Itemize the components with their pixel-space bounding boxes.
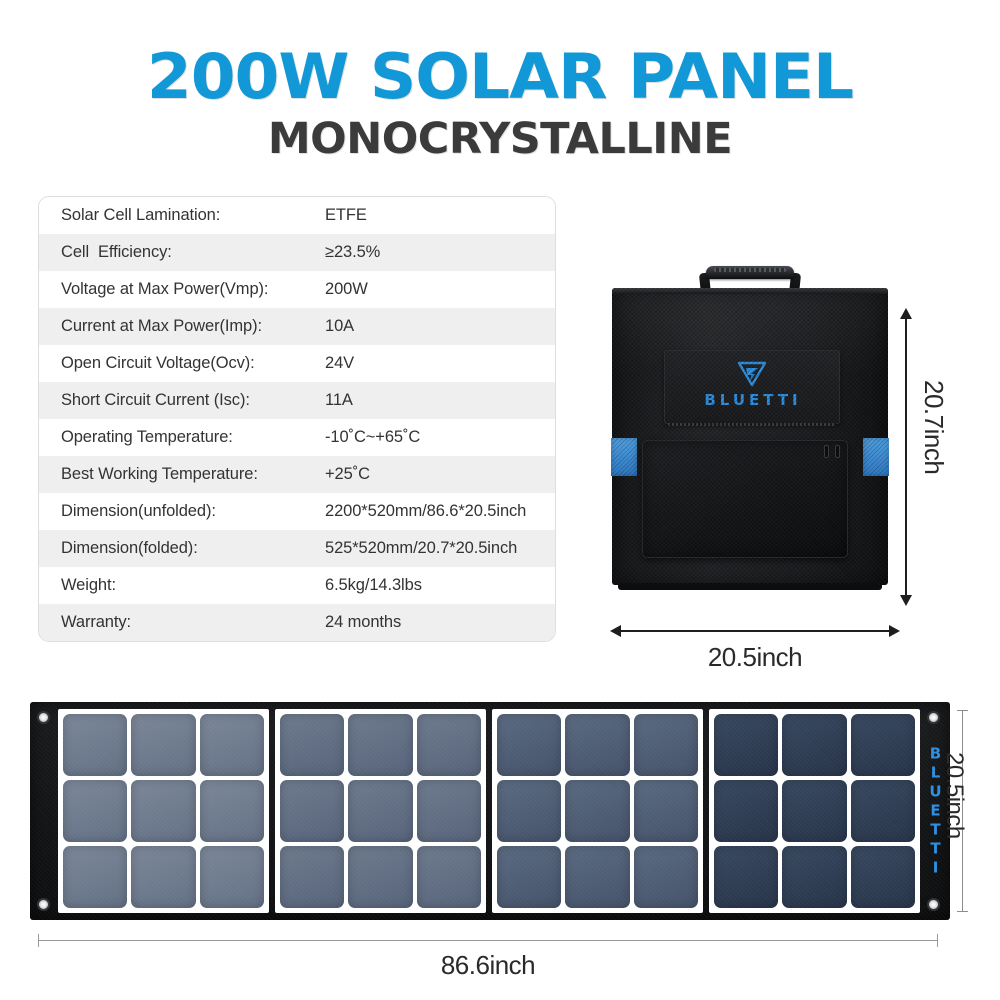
bag-width-dimension-line	[620, 630, 890, 632]
grommet-icon	[927, 711, 940, 724]
bag-flap-panel: BLUETTI	[664, 350, 840, 424]
solar-cell	[634, 780, 698, 842]
spec-label: Short Circuit Current (Isc):	[61, 391, 325, 410]
panel-width-dimension-line	[38, 940, 938, 941]
table-row: Operating Temperature: -10˚C~+65˚C	[39, 419, 555, 456]
arrow-left-icon	[610, 625, 621, 637]
folded-panel-bag-image: BLUETTI	[612, 288, 888, 588]
solar-cell	[131, 780, 195, 842]
spec-value: 11A	[325, 391, 353, 410]
solar-cell	[782, 780, 846, 842]
solar-cell	[497, 846, 561, 908]
spec-value: +25˚C	[325, 465, 370, 484]
tick-mark	[937, 934, 938, 947]
grommet-icon	[927, 898, 940, 911]
bag-top-edge	[612, 288, 888, 294]
product-spec-infographic: 200W SOLAR PANEL MONOCRYSTALLINE Solar C…	[0, 0, 1000, 1000]
solar-cell	[851, 846, 915, 908]
bag-front-pocket	[642, 440, 848, 558]
table-row: Short Circuit Current (Isc): 11A	[39, 382, 555, 419]
spec-value: 6.5kg/14.3lbs	[325, 576, 422, 595]
table-row: Voltage at Max Power(Vmp): 200W	[39, 271, 555, 308]
spec-value: 2200*520mm/86.6*20.5inch	[325, 502, 526, 521]
panel-section	[709, 709, 920, 913]
solar-cell	[782, 846, 846, 908]
solar-cell	[200, 714, 264, 776]
spec-value: 525*520mm/20.7*20.5inch	[325, 539, 517, 558]
zipper-pull-icon	[824, 445, 829, 458]
spec-label: Weight:	[61, 576, 325, 595]
spec-value: ≥23.5%	[325, 243, 380, 262]
solar-cell	[417, 780, 481, 842]
page-title: 200W SOLAR PANEL	[0, 46, 1000, 108]
bag-width-label: 20.5inch	[620, 642, 890, 673]
spec-value: 10A	[325, 317, 354, 336]
spec-value: -10˚C~+65˚C	[325, 428, 420, 447]
panel-width-label: 86.6inch	[38, 950, 938, 981]
bluetti-triangle-logo-icon	[737, 361, 767, 387]
spec-label: Dimension(folded):	[61, 539, 325, 558]
arrow-right-icon	[889, 625, 900, 637]
zipper-pull-icon	[835, 445, 840, 458]
side-strap-right	[863, 438, 889, 476]
solar-cell	[348, 846, 412, 908]
grommet-icon	[37, 898, 50, 911]
spec-table: Solar Cell Lamination: ETFE Cell Efficie…	[38, 196, 556, 642]
table-row: Dimension(folded): 525*520mm/20.7*20.5in…	[39, 530, 555, 567]
solar-cell	[200, 846, 264, 908]
grommet-icon	[37, 711, 50, 724]
bag-body: BLUETTI	[612, 288, 888, 585]
bluetti-wordmark: BLUETTI	[665, 391, 841, 409]
solar-cell	[131, 714, 195, 776]
table-row: Warranty: 24 months	[39, 604, 555, 641]
solar-cell	[714, 846, 778, 908]
solar-cell	[417, 846, 481, 908]
table-row: Open Circuit Voltage(Ocv): 24V	[39, 345, 555, 382]
bag-bottom-edge	[618, 583, 882, 590]
solar-cell	[63, 846, 127, 908]
spec-label: Operating Temperature:	[61, 428, 325, 447]
bag-height-dimension-line	[905, 318, 907, 596]
solar-cell	[280, 780, 344, 842]
spec-label: Warranty:	[61, 613, 325, 632]
panel-section	[58, 709, 269, 913]
table-row: Cell Efficiency: ≥23.5%	[39, 234, 555, 271]
spec-value: 200W	[325, 280, 368, 299]
table-row: Best Working Temperature: +25˚C	[39, 456, 555, 493]
arrow-down-icon	[900, 595, 912, 606]
solar-cell	[634, 846, 698, 908]
spec-value: 24V	[325, 354, 354, 373]
solar-cell	[714, 714, 778, 776]
tick-mark	[957, 911, 968, 912]
panel-section	[492, 709, 703, 913]
solar-cell	[63, 714, 127, 776]
panel-section	[275, 709, 486, 913]
spec-label: Solar Cell Lamination:	[61, 206, 325, 225]
side-strap-left	[611, 438, 637, 476]
solar-cell	[565, 846, 629, 908]
panel-height-label: 20.5inch	[940, 752, 968, 839]
spec-label: Voltage at Max Power(Vmp):	[61, 280, 325, 299]
solar-cell	[714, 780, 778, 842]
solar-cell	[565, 714, 629, 776]
solar-cell	[497, 780, 561, 842]
table-row: Weight: 6.5kg/14.3lbs	[39, 567, 555, 604]
panel-sections	[58, 702, 920, 920]
solar-cell	[131, 846, 195, 908]
spec-value: ETFE	[325, 206, 367, 225]
table-row: Solar Cell Lamination: ETFE	[39, 197, 555, 234]
table-row: Current at Max Power(Imp): 10A	[39, 308, 555, 345]
arrow-up-icon	[900, 308, 912, 319]
page-subtitle: MONOCRYSTALLINE	[0, 118, 1000, 161]
panel-left-edge	[30, 702, 58, 920]
solar-cell	[634, 714, 698, 776]
spec-label: Dimension(unfolded):	[61, 502, 325, 521]
solar-cell	[348, 714, 412, 776]
spec-value: 24 months	[325, 613, 401, 632]
solar-cell	[851, 714, 915, 776]
spec-label: Open Circuit Voltage(Ocv):	[61, 354, 325, 373]
solar-cell	[348, 780, 412, 842]
solar-cell	[782, 714, 846, 776]
unfolded-solar-panel-image: BLUETTI	[30, 702, 950, 920]
spec-label: Current at Max Power(Imp):	[61, 317, 325, 336]
spec-label: Best Working Temperature:	[61, 465, 325, 484]
solar-cell	[851, 780, 915, 842]
solar-cell	[280, 846, 344, 908]
solar-cell	[63, 780, 127, 842]
solar-cell	[280, 714, 344, 776]
solar-cell	[565, 780, 629, 842]
solar-cell	[200, 780, 264, 842]
solar-cell	[417, 714, 481, 776]
bag-height-label: 20.7inch	[918, 380, 949, 474]
solar-cell	[497, 714, 561, 776]
tick-mark	[38, 934, 39, 947]
table-row: Dimension(unfolded): 2200*520mm/86.6*20.…	[39, 493, 555, 530]
spec-label: Cell Efficiency:	[61, 243, 325, 262]
tick-mark	[957, 710, 968, 711]
